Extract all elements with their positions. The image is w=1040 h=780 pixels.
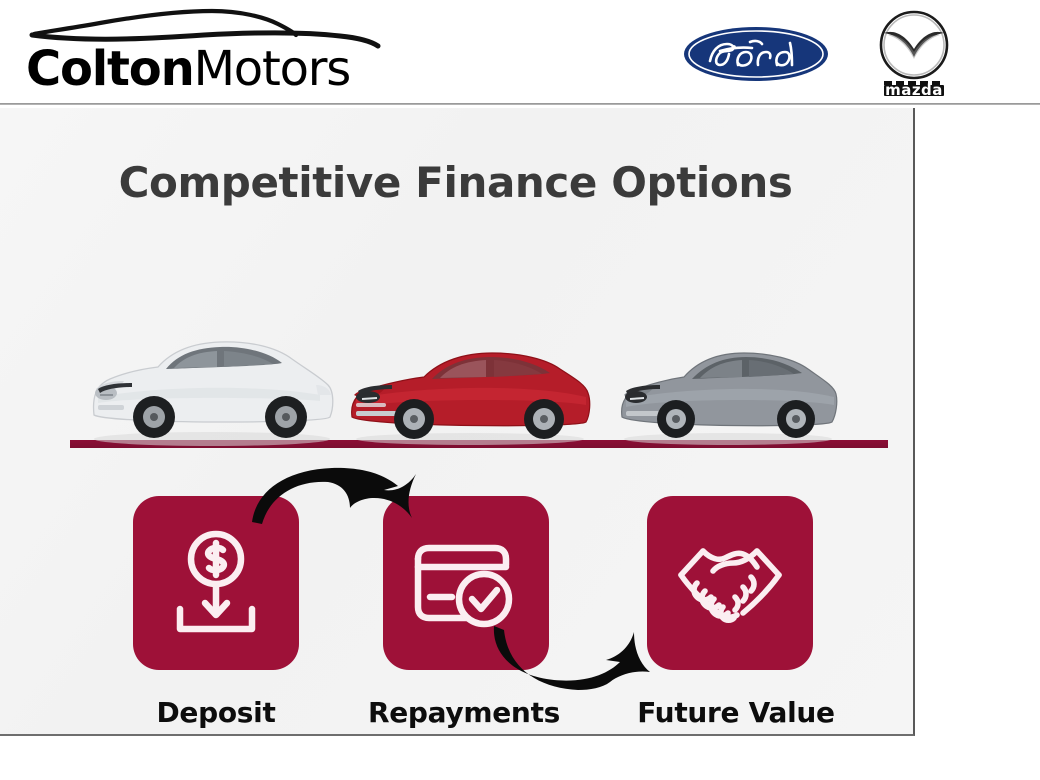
colton-motors-wordmark: ColtonMotors — [26, 40, 382, 98]
page-header: ColtonMotors mazda — [0, 0, 1040, 105]
finance-options-panel: Competitive Finance Options — [0, 108, 915, 736]
ford-oval-logo[interactable] — [682, 25, 830, 83]
brand-name-light: Motors — [194, 41, 351, 97]
step-caption-repayments: Repayments Agree on monthly repayments t… — [324, 696, 604, 736]
handshake-icon — [669, 531, 791, 635]
step-caption-deposit: Deposit Choose A deposit that's right fo… — [76, 696, 356, 736]
svg-text:mazda: mazda — [885, 81, 943, 99]
mazda-wing-logo[interactable]: mazda — [868, 9, 960, 101]
finance-steps-icons — [0, 496, 913, 672]
car-grey-hatchback — [612, 339, 842, 447]
step-icon-box-future-value[interactable] — [647, 496, 813, 670]
colton-motors-logo[interactable]: ColtonMotors — [26, 8, 382, 98]
car-red-sedan — [342, 335, 594, 447]
arrow-deposit-to-repayments — [246, 460, 446, 530]
page-title: Competitive Finance Options — [0, 158, 913, 207]
step-caption-future-value: Future Value Future value guarantee by C… — [596, 696, 876, 736]
step-heading-repayments: Repayments — [324, 696, 604, 730]
arrow-repayments-to-future-value — [490, 620, 666, 690]
deposit-coin-download-icon — [164, 529, 268, 637]
step-heading-future-value: Future Value — [596, 696, 876, 730]
finance-steps-captions: Deposit Choose A deposit that's right fo… — [0, 696, 913, 736]
header-divider — [0, 103, 1040, 105]
car-white-suv — [80, 327, 340, 447]
brand-name-bold: Colton — [26, 41, 194, 97]
car-showroom — [0, 320, 913, 455]
step-heading-deposit: Deposit — [76, 696, 356, 730]
